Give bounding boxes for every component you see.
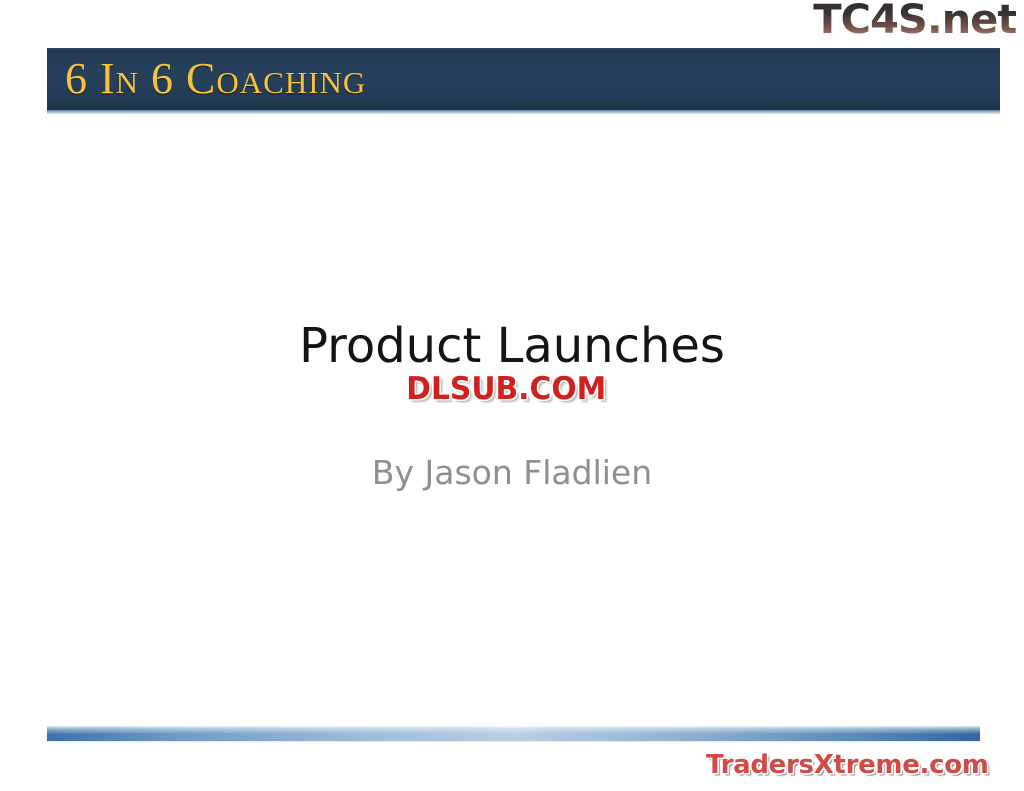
slide-header-banner: 6 In 6 Coaching [47, 48, 1000, 110]
title-block: Product Launches [0, 318, 1024, 374]
slide-subtitle: By Jason Fladlien [0, 452, 1024, 494]
tc4s-watermark: TC4S.net [813, 0, 1016, 42]
dlsub-watermark: DLSUB.COM [368, 374, 644, 404]
tradersxtreme-watermark: TradersXtreme.com [706, 750, 989, 780]
header-banner-title: 6 In 6 Coaching [65, 56, 366, 102]
header-banner-underline [47, 110, 1000, 114]
slide-footer-bar [47, 726, 980, 741]
presentation-slide: TC4S.net 6 In 6 Coaching Product Launche… [0, 0, 1024, 791]
page-title: Product Launches [0, 318, 1024, 374]
